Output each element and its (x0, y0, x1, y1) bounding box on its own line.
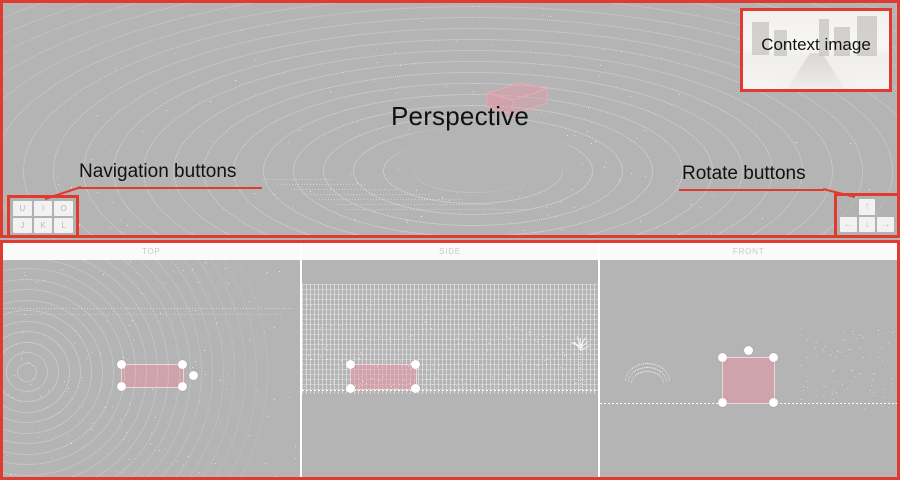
perspective-label: Perspective (391, 101, 529, 132)
context-road (787, 53, 845, 89)
bbox-handle-bottom-right[interactable] (411, 384, 420, 393)
nav-key-j[interactable]: J (13, 218, 32, 233)
rotate-buttons-callout-underline (679, 189, 824, 191)
top-view-canvas[interactable] (3, 260, 300, 477)
navigation-buttons-group[interactable]: UIOJKL (7, 195, 79, 238)
nav-key-i[interactable]: I (34, 201, 53, 216)
bbox-handle-bottom-left[interactable] (718, 398, 727, 407)
bbox-handle-top-right[interactable] (769, 353, 778, 362)
rotate-key-left[interactable]: ← (840, 217, 857, 233)
bbox-handle-top-right[interactable] (411, 360, 420, 369)
nav-key-u[interactable]: U (13, 201, 32, 216)
context-image-panel[interactable]: Context image (740, 8, 892, 92)
navigation-buttons-callout-underline (78, 187, 262, 189)
rotate-buttons-callout-leader (821, 188, 857, 198)
nav-key-l[interactable]: L (54, 218, 73, 233)
projection-view-top[interactable]: TOP (3, 243, 302, 477)
navigation-buttons-callout-label: Navigation buttons (79, 161, 236, 183)
navigation-buttons-callout-leader (43, 186, 83, 200)
rotate-key-right[interactable]: → (877, 217, 894, 233)
perspective-view[interactable]: Perspective Context image UIOJKL ↑←↓→ Na… (0, 0, 900, 238)
rotate-key-blank-left (840, 199, 857, 215)
bounding-box-side-view[interactable] (350, 364, 417, 390)
projection-view-front[interactable]: FRONT (600, 243, 897, 477)
projection-view-side[interactable]: SIDE (302, 243, 601, 477)
projection-title-front: FRONT (600, 243, 897, 260)
rotate-key-down[interactable]: ↓ (859, 217, 876, 233)
rotate-key-up[interactable]: ↑ (859, 199, 876, 215)
projection-title-top: TOP (3, 243, 300, 260)
bbox-handle-top-left[interactable] (718, 353, 727, 362)
nav-key-o[interactable]: O (54, 201, 73, 216)
bbox-handle-top-center[interactable] (744, 346, 753, 355)
annotation-tool-root: Perspective Context image UIOJKL ↑←↓→ Na… (0, 0, 900, 480)
bbox-handle-bottom-right[interactable] (769, 398, 778, 407)
nav-key-k[interactable]: K (34, 218, 53, 233)
projections-panel[interactable]: TOP SIDE (0, 240, 900, 480)
projections-row: TOP SIDE (3, 243, 897, 477)
rotate-key-blank-right (877, 199, 894, 215)
side-view-canvas[interactable] (302, 260, 599, 477)
projection-title-side: SIDE (302, 243, 599, 260)
bounding-box-front-view[interactable] (722, 357, 775, 404)
rotate-buttons-group[interactable]: ↑←↓→ (834, 193, 900, 238)
rotate-buttons-callout-label: Rotate buttons (682, 163, 806, 185)
lidar-shadow-ellipse (405, 125, 565, 187)
context-image-label: Context image (743, 35, 889, 55)
front-view-canvas[interactable] (600, 260, 897, 477)
